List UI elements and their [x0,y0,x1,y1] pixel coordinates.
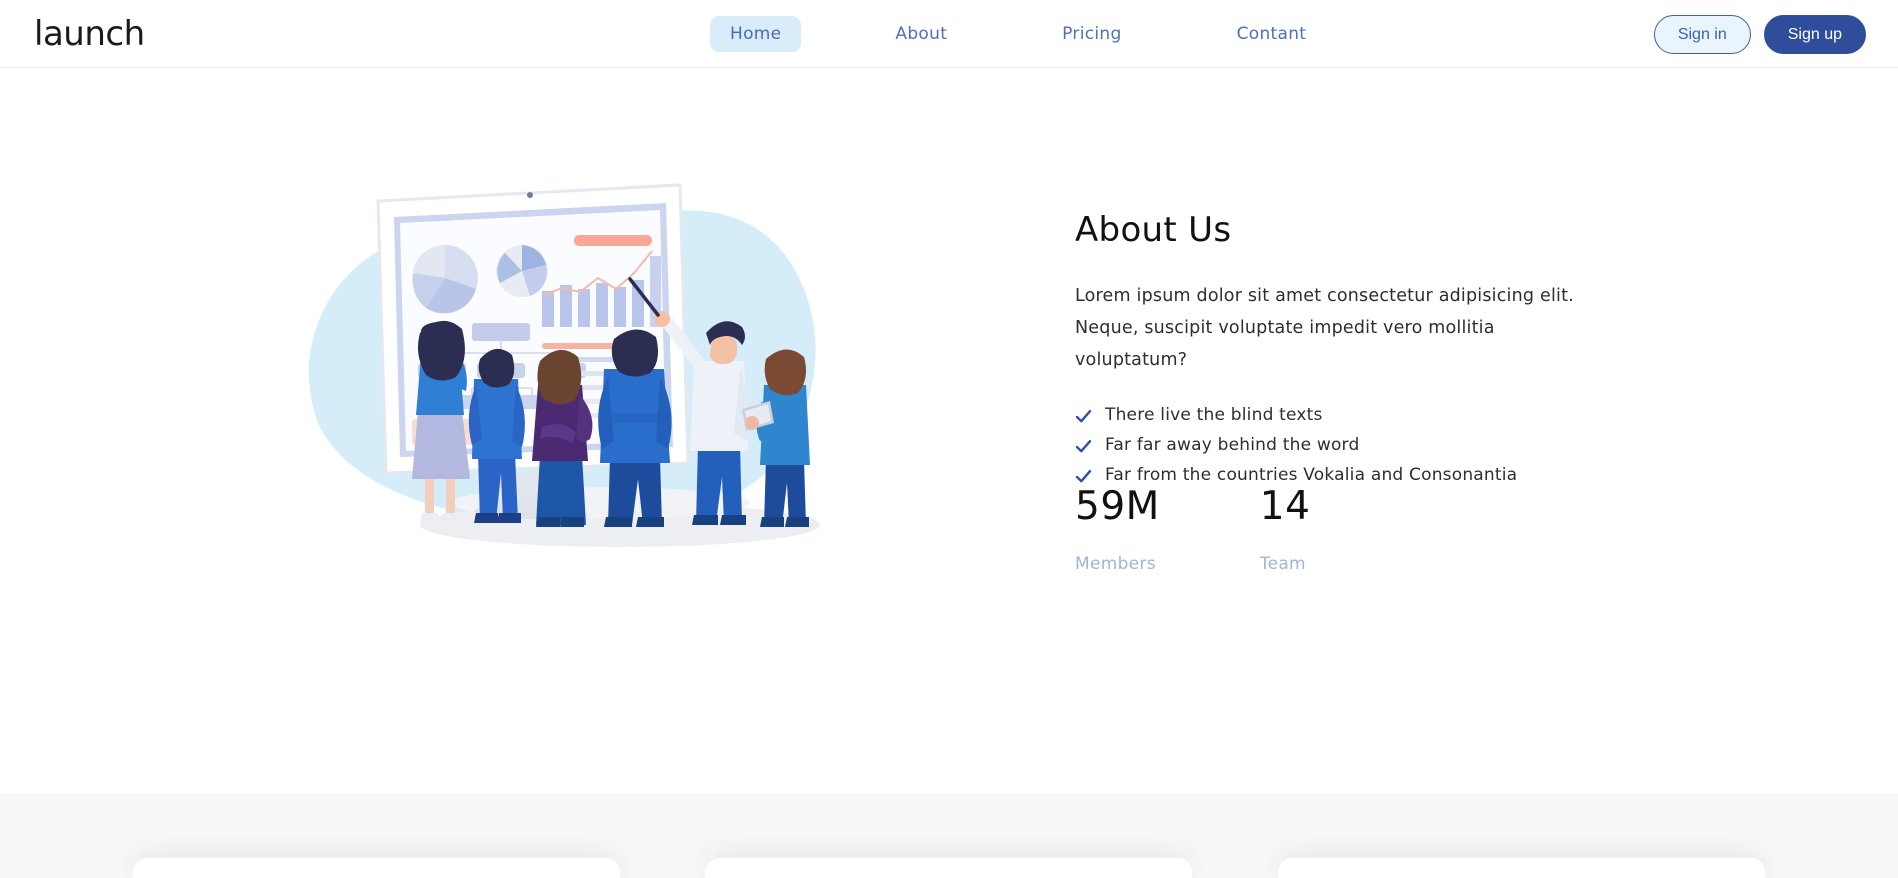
card-row [0,858,1898,878]
nav-item-about[interactable]: About [875,16,967,52]
next-section [0,793,1898,878]
sign-up-button[interactable]: Sign up [1764,15,1866,54]
feature-card[interactable] [133,858,620,878]
about-section: About Us Lorem ipsum dolor sit amet cons… [0,68,1898,793]
page-title: About Us [1075,208,1695,252]
list-item: Far far away behind the word [1075,430,1695,460]
stat-members: 59M Members [1075,483,1160,577]
stats-row: 59M Members 14 Team [1075,483,1310,577]
auth-buttons: Sign in Sign up [1654,0,1866,68]
nav-item-contant[interactable]: Contant [1217,16,1327,52]
about-paragraph: Lorem ipsum dolor sit amet consectetur a… [1075,280,1605,376]
check-icon [1075,408,1092,425]
sign-in-button[interactable]: Sign in [1654,15,1751,54]
stat-label: Team [1260,551,1311,577]
checklist-label: Far far away behind the word [1105,430,1359,460]
stat-value: 14 [1260,483,1311,531]
site-header: launch Home About Pricing Contant Sign i… [0,0,1898,68]
landing-page: launch Home About Pricing Contant Sign i… [0,0,1898,878]
nav-item-pricing[interactable]: Pricing [1042,16,1141,52]
feature-checklist: There live the blind texts Far far away … [1075,400,1695,490]
main-navigation: Home About Pricing Contant [710,0,1326,68]
list-item: There live the blind texts [1075,400,1695,430]
stat-label: Members [1075,551,1160,577]
check-icon [1075,468,1092,485]
checklist-label: There live the blind texts [1105,400,1323,430]
stat-team: 14 Team [1260,483,1311,577]
stat-value: 59M [1075,483,1160,531]
team-presentation-illustration [300,173,900,593]
about-content-column: About Us Lorem ipsum dolor sit amet cons… [1075,208,1695,490]
brand-logo[interactable]: launch [34,14,145,54]
nav-item-home[interactable]: Home [710,16,801,52]
check-icon [1075,438,1092,455]
feature-card[interactable] [1278,858,1765,878]
feature-card[interactable] [705,858,1192,878]
